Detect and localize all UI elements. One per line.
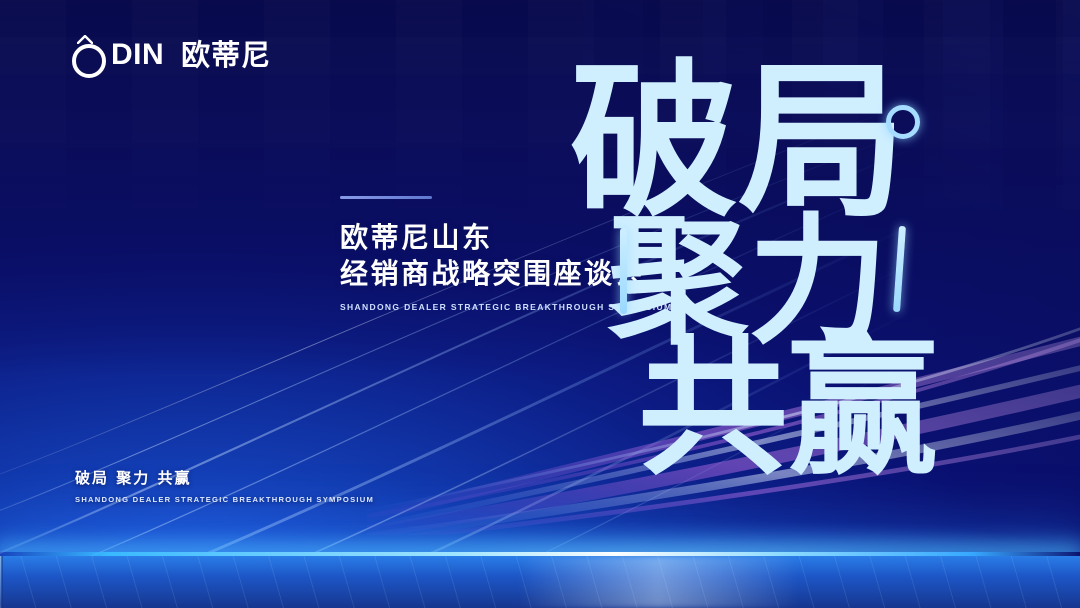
brand-logo: DIN 欧蒂尼 (72, 40, 271, 70)
poster-canvas: DIN 欧蒂尼 欧蒂尼山东 经销商战略突围座谈会 SHANDONG DEALER… (0, 0, 1080, 608)
degree-ring-icon (886, 105, 920, 139)
tagline-english: SHANDONG DEALER STRATEGIC BREAKTHROUGH S… (75, 495, 374, 504)
calligraphy-headline: 破局 聚力 共赢 (560, 40, 1030, 470)
tagline-chinese: 破局 聚力 共赢 (75, 468, 374, 488)
calligraphy-row3: 共赢 (638, 322, 938, 496)
logo-chinese-text: 欧蒂尼 (181, 40, 271, 70)
footer-tagline: 破局 聚力 共赢 SHANDONG DEALER STRATEGIC BREAK… (75, 468, 374, 504)
odin-o-icon (72, 40, 102, 70)
accent-bar-left (620, 228, 627, 314)
logo-latin-text: DIN (111, 40, 164, 70)
floor-shine (518, 556, 799, 608)
title-divider-rule (340, 196, 432, 199)
